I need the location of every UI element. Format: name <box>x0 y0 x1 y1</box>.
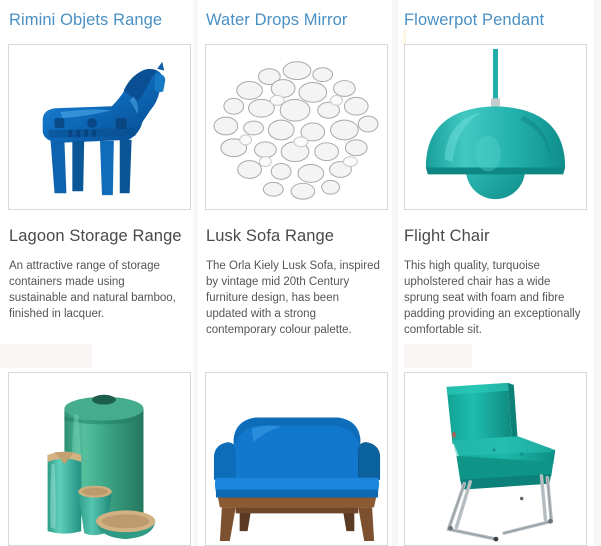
product-image-frame-water-drops-mirror[interactable] <box>205 44 388 210</box>
product-title-lagoon-storage-range[interactable]: Lagoon Storage Range <box>9 226 182 246</box>
water-drops-pebble-mirror <box>206 45 387 209</box>
product-image-frame-lagoon-storage-range[interactable] <box>8 372 191 546</box>
column-gutter-2 <box>392 0 398 546</box>
product-title-rimini-objets-range[interactable]: Rimini Objets Range <box>9 10 162 30</box>
turquoise-flowerpot-pendant-lamp <box>405 45 586 209</box>
product-description-flight-chair: This high quality, turquoise upholstered… <box>404 258 584 338</box>
product-title-lusk-sofa-range[interactable]: Lusk Sofa Range <box>206 226 334 246</box>
product-image-frame-flowerpot-pendant[interactable] <box>404 44 587 210</box>
product-image-frame-lusk-sofa-range[interactable] <box>205 372 388 546</box>
product-image-frame-rimini-objets-range[interactable] <box>8 44 191 210</box>
blue-lusk-sofa <box>206 373 387 545</box>
product-title-water-drops-mirror[interactable]: Water Drops Mirror <box>206 10 347 30</box>
product-grid-page: Rimini Objets Range Water Drops Mirror F… <box>0 0 601 546</box>
column-gutter-1 <box>193 0 198 546</box>
blue-ceramic-horse-figurine <box>9 45 190 209</box>
product-image-frame-flight-chair[interactable] <box>404 372 587 546</box>
green-bamboo-storage-containers <box>9 373 190 545</box>
pink-marker-bar-1 <box>0 344 92 368</box>
product-description-lusk-sofa-range: The Orla Kiely Lusk Sofa, inspired by vi… <box>206 258 380 338</box>
product-title-flight-chair[interactable]: Flight Chair <box>404 226 490 246</box>
turquoise-flight-chair <box>405 373 586 545</box>
page-edge-gutter <box>594 0 601 546</box>
pink-marker-bar-2 <box>404 344 472 368</box>
product-title-flowerpot-pendant[interactable]: Flowerpot Pendant <box>404 10 544 30</box>
product-description-lagoon-storage-range: An attractive range of storage container… <box>9 258 183 322</box>
